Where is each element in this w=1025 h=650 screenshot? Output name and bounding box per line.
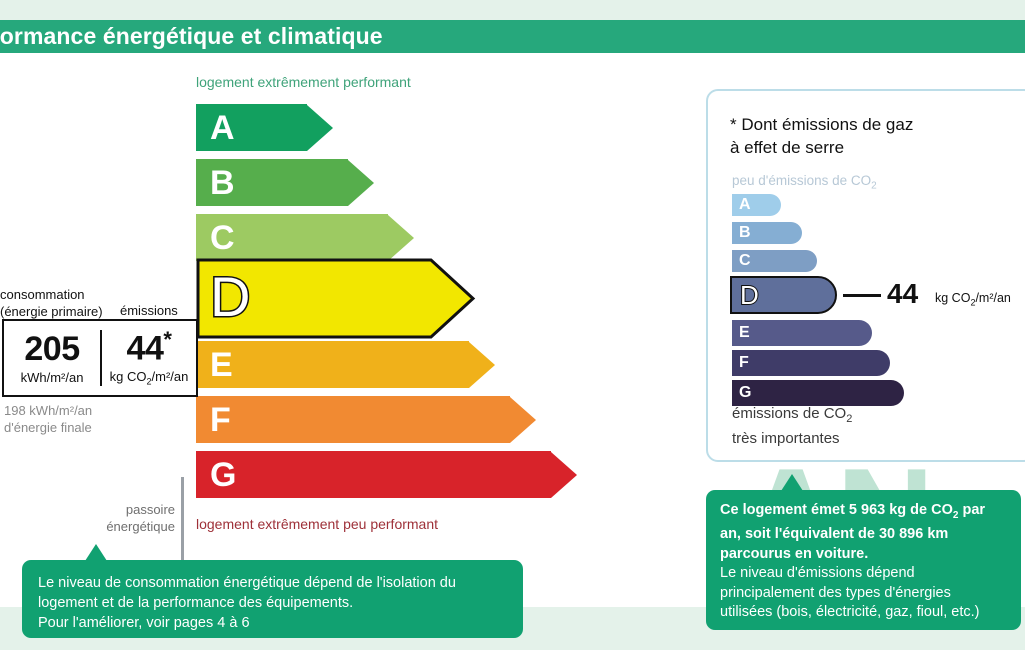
- co2-bar-letter-e: E: [739, 325, 750, 341]
- ladder-bar-c: C: [196, 214, 417, 261]
- ladder-bar-e: E: [196, 341, 498, 388]
- energie-finale-line1: 198 kWh/m²/an: [4, 402, 92, 419]
- co2-title-line2: à effet de serre: [730, 138, 844, 157]
- co2-bar-e: E: [732, 320, 872, 346]
- ladder-bar-body-e: E: [196, 341, 469, 388]
- ladder-bar-a: A: [196, 104, 336, 151]
- callout-left-line1: Le niveau de consommation énergétique dé…: [38, 575, 456, 591]
- ladder-bar-body-b: B: [196, 159, 348, 206]
- ladder-bar-letter-e: E: [210, 348, 233, 382]
- callout-right: Ce logement émet 5 963 kg de CO2 paran, …: [706, 490, 1021, 630]
- ladder-caption-top: logement extrêmement performant: [196, 74, 411, 90]
- co2-bar-f: F: [732, 350, 890, 376]
- label-consommation-line2: (énergie primaire): [0, 303, 120, 320]
- co2-caption-bottom: émissions de CO2 très importantes: [732, 404, 852, 449]
- callout-right-line4: Le niveau d'émissions dépend: [720, 565, 915, 581]
- ladder-bar-letter-f: F: [210, 403, 231, 437]
- ladder-bar-body-c: C: [196, 214, 388, 261]
- co2-bar-b: B: [732, 222, 802, 244]
- ladder-bar-letter-a: A: [210, 111, 235, 145]
- co2-bar-letter-a: A: [739, 197, 751, 213]
- co2-value: 44: [887, 280, 918, 308]
- co2-caption-bottom-line2: très importantes: [732, 430, 840, 447]
- unit-emissions: kg CO2/m²/an: [110, 370, 189, 387]
- callout-left-line3: Pour l'améliorer, voir pages 4 à 6: [38, 615, 250, 631]
- ladder-bar-g: G: [196, 451, 580, 498]
- ladder-bar-tip-a: [307, 105, 336, 151]
- co2-bar-g: G: [732, 380, 904, 406]
- value-emissions: 44*: [127, 329, 172, 365]
- ladder-bar-tip-g: [551, 452, 580, 498]
- dpe-diagram: formance énergétique et climatique AN IM…: [0, 0, 1025, 650]
- ladder-bar-tip-c: [388, 215, 417, 261]
- co2-caption-top: peu d'émissions de CO2: [732, 173, 877, 192]
- page-title: formance énergétique et climatique: [0, 20, 383, 53]
- ladder-bar-letter-g: G: [210, 458, 236, 492]
- callout-right-line5: principalement des types d'énergies: [720, 585, 951, 601]
- passoire-label: passoire énergétique: [60, 501, 175, 535]
- value-cell-primary: 205 kWh/m²/an: [4, 321, 100, 395]
- label-consommation: consommation (énergie primaire): [0, 286, 120, 320]
- top-strip: [0, 0, 1025, 20]
- value-emissions-star: *: [163, 327, 171, 352]
- co2-panel: * Dont émissions de gaz à effet de serre…: [706, 89, 1025, 462]
- co2-unit: kg CO2/m²/an: [935, 291, 1011, 308]
- ladder-caption-bottom: logement extrêmement peu performant: [196, 516, 438, 532]
- ladder-bar-body-g: G: [196, 451, 551, 498]
- co2-bar-letter-c: C: [739, 253, 751, 269]
- ladder-bar-letter-c: C: [210, 221, 235, 255]
- callout-right-notch: [781, 474, 803, 491]
- co2-title-line1: Dont émissions de gaz: [741, 115, 913, 134]
- value-box: 205 kWh/m²/an 44* kg CO2/m²/an: [2, 319, 198, 397]
- ladder-bar-letter-b: B: [210, 166, 235, 200]
- passoire-label-line2: énergétique: [60, 518, 175, 535]
- ladder-bar-body-a: A: [196, 104, 307, 151]
- callout-right-text: Ce logement émet 5 963 kg de CO2 paran, …: [706, 490, 1021, 634]
- ladder-bar-letter-d: D: [210, 269, 250, 325]
- label-consommation-line1: consommation: [0, 286, 120, 303]
- co2-bar-letter-d: D: [740, 282, 759, 308]
- energy-ladder: logement extrêmement performant logement…: [0, 61, 640, 541]
- co2-bar-letter-f: F: [739, 355, 749, 371]
- energie-finale: 198 kWh/m²/an d'énergie finale: [4, 402, 92, 436]
- header-underline: [0, 53, 1025, 61]
- callout-right-line6: utilisées (bois, électricité, gaz, fioul…: [720, 604, 980, 620]
- value-primary: 205: [24, 332, 79, 366]
- ladder-bar-body-f: F: [196, 396, 510, 443]
- co2-leader-line: [843, 294, 881, 297]
- co2-bar-d: D: [730, 276, 837, 314]
- callout-left-notch: [85, 544, 107, 561]
- co2-bar-c: C: [732, 250, 817, 272]
- ladder-bar-tip-b: [348, 160, 377, 206]
- callout-right-bold: Ce logement émet 5 963 kg de CO2 paran, …: [720, 502, 985, 562]
- ladder-bar-f: F: [196, 396, 539, 443]
- ladder-bar-b: B: [196, 159, 377, 206]
- co2-bar-letter-b: B: [739, 225, 751, 241]
- co2-panel-title: * Dont émissions de gaz à effet de serre: [730, 113, 913, 159]
- co2-bar-a: A: [732, 194, 781, 216]
- passoire-label-line1: passoire: [60, 501, 175, 518]
- unit-primary: kWh/m²/an: [21, 371, 84, 384]
- callout-left-line2: logement et de la performance des équipe…: [38, 595, 353, 611]
- value-cell-emissions: 44* kg CO2/m²/an: [102, 321, 196, 395]
- label-emissions: émissions: [120, 303, 178, 318]
- co2-asterisk: *: [730, 115, 737, 134]
- energie-finale-line2: d'énergie finale: [4, 419, 92, 436]
- callout-left-text: Le niveau de consommation énergétique dé…: [22, 560, 523, 647]
- co2-bar-letter-g: G: [739, 385, 751, 401]
- ladder-bar-tip-e: [469, 342, 498, 388]
- callout-left: Le niveau de consommation énergétique dé…: [22, 560, 523, 638]
- ladder-bar-tip-f: [510, 397, 539, 443]
